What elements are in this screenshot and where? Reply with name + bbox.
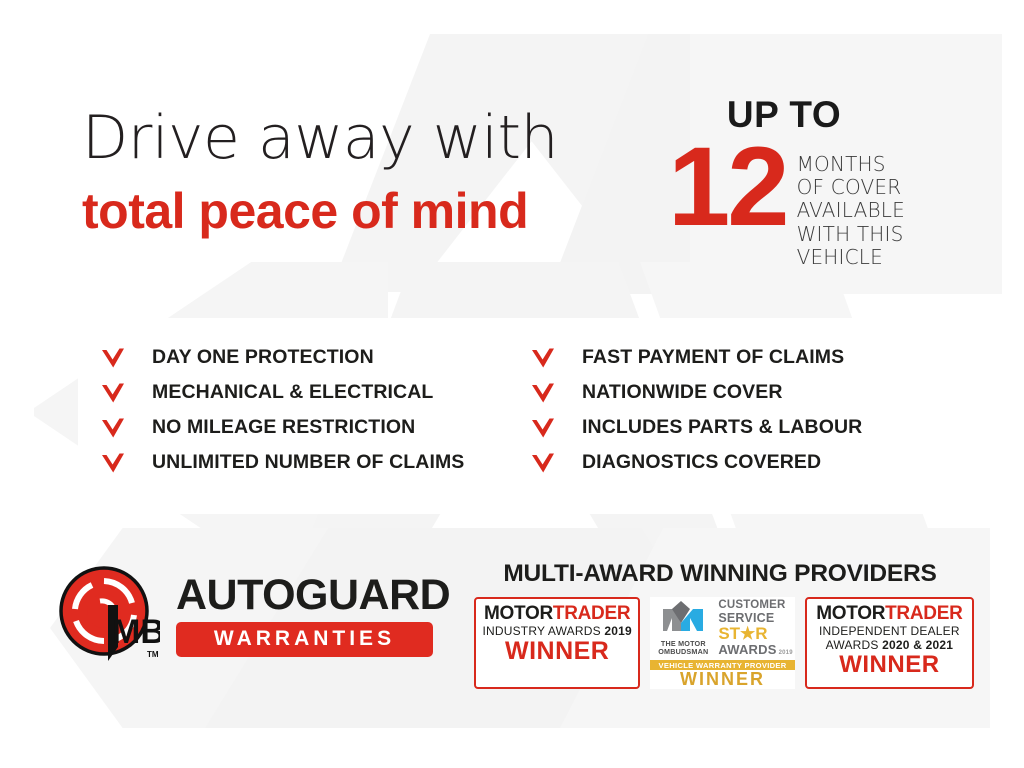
svg-text:MBi: MBi (112, 613, 160, 651)
mbi-logo-icon: MBi TM (56, 565, 160, 665)
brand-logo: MBi TM AUTOGUARD WARRANTIES (56, 565, 450, 665)
feature-item: INCLUDES PARTS & LABOUR (530, 410, 960, 445)
offer-detail-line: VEHICLE (797, 246, 905, 269)
brand-name: AUTOGUARD (176, 574, 450, 617)
feature-item: NO MILEAGE RESTRICTION (100, 410, 530, 445)
offer-block: UP TO 12 MONTHS OF COVER AVAILABLE WITH … (668, 96, 968, 269)
star-awards-title: CUSTOMER SERVICE ST★R AWARDS2019 (718, 600, 792, 656)
feature-item: DIAGNOSTICS COVERED (530, 445, 960, 480)
feature-label: INCLUDES PARTS & LABOUR (582, 416, 862, 439)
feature-list: DAY ONE PROTECTION MECHANICAL & ELECTRIC… (100, 340, 980, 480)
feature-item: MECHANICAL & ELECTRICAL (100, 375, 530, 410)
star-awards-line-3: ST★R (718, 625, 792, 643)
offer-detail-line: OF COVER (797, 176, 905, 199)
feature-item: DAY ONE PROTECTION (100, 340, 530, 375)
badge-year: 2020 & 2021 (882, 638, 953, 652)
star-awards-line-4: AWARDS2019 (718, 643, 792, 657)
feature-label: NATIONWIDE COVER (582, 381, 783, 404)
check-icon (100, 347, 126, 369)
headline: Drive away with total peace of mind (82, 108, 682, 239)
awards-section: MULTI-AWARD WINNING PROVIDERS MOTORTRADE… (474, 560, 974, 689)
awards-title: MULTI-AWARD WINNING PROVIDERS (474, 560, 966, 588)
feature-label: MECHANICAL & ELECTRICAL (152, 381, 433, 404)
ombudsman-name: THE MOTOR OMBUDSMAN (654, 640, 712, 657)
award-badges: MOTORTRADER INDUSTRY AWARDS 2019 WINNER (474, 597, 974, 689)
badge-brand: MOTORTRADER (480, 604, 634, 624)
check-icon (100, 452, 126, 474)
motor-ombudsman-logo: THE MOTOR OMBUDSMAN (654, 599, 712, 657)
badge-result: WINNER (811, 652, 968, 677)
badge-subtitle-text: INDUSTRY AWARDS (482, 624, 600, 638)
feature-item: FAST PAYMENT OF CLAIMS (530, 340, 960, 375)
badge-winner-bar: VEHICLE WARRANTY PROVIDER WINNER (650, 660, 794, 689)
check-icon (530, 347, 556, 369)
feature-item: NATIONWIDE COVER (530, 375, 960, 410)
bottom-margin-mask (0, 728, 1024, 768)
badge-brand-black: MOTOR (484, 603, 553, 624)
ombudsman-m-icon (657, 599, 709, 633)
badge-awards-label: AWARDS (826, 638, 879, 652)
badge-subtitle: INDEPENDENT DEALER (811, 625, 968, 638)
star-awards-year: 2019 (779, 650, 793, 656)
top-margin-mask (0, 0, 1024, 34)
badge-brand-black: MOTOR (816, 603, 885, 624)
headline-line-2: total peace of mind (82, 183, 682, 239)
offer-months-number: 12 (668, 135, 787, 238)
badge-brand-red: TRADER (553, 603, 630, 624)
headline-line-1: Drive away with (82, 108, 682, 169)
badge-year: 2019 (604, 624, 632, 638)
check-icon (530, 382, 556, 404)
feature-label: FAST PAYMENT OF CLAIMS (582, 346, 844, 369)
star-awards-line-2: SERVICE (718, 612, 792, 625)
feature-label: UNLIMITED NUMBER OF CLAIMS (152, 451, 464, 474)
offer-detail-line: WITH THIS (797, 223, 905, 246)
brand-tagline: WARRANTIES (214, 627, 395, 650)
offer-detail-line: MONTHS (797, 153, 905, 176)
offer-detail-lines: MONTHS OF COVER AVAILABLE WITH THIS VEHI… (797, 153, 905, 269)
feature-label: DIAGNOSTICS COVERED (582, 451, 821, 474)
badge-result: WINNER (650, 670, 794, 689)
trademark-symbol: TM (147, 650, 159, 659)
brand-wordmark: AUTOGUARD WARRANTIES (176, 574, 450, 657)
feature-column-left: DAY ONE PROTECTION MECHANICAL & ELECTRIC… (100, 340, 530, 480)
badge-result: WINNER (480, 638, 634, 664)
check-icon (530, 417, 556, 439)
ombudsman-name-line-2: OMBUDSMAN (654, 648, 712, 656)
feature-label: NO MILEAGE RESTRICTION (152, 416, 415, 439)
star-awards-word: AWARDS (718, 643, 776, 657)
award-badge-customer-service-star: THE MOTOR OMBUDSMAN CUSTOMER SERVICE ST★… (650, 597, 794, 689)
check-icon (530, 452, 556, 474)
badge-top-row: THE MOTOR OMBUDSMAN CUSTOMER SERVICE ST★… (650, 597, 794, 657)
feature-item: UNLIMITED NUMBER OF CLAIMS (100, 445, 530, 480)
offer-number-row: 12 MONTHS OF COVER AVAILABLE WITH THIS V… (668, 135, 968, 269)
feature-column-right: FAST PAYMENT OF CLAIMS NATIONWIDE COVER … (530, 340, 960, 480)
promo-banner: Drive away with total peace of mind UP T… (0, 0, 1024, 768)
offer-detail-line: AVAILABLE (797, 199, 905, 222)
right-margin-mask (1002, 0, 1024, 768)
feature-label: DAY ONE PROTECTION (152, 346, 374, 369)
award-badge-motor-trader-2019: MOTORTRADER INDUSTRY AWARDS 2019 WINNER (474, 597, 640, 689)
badge-brand: MOTORTRADER (811, 604, 968, 624)
award-badge-motor-trader-2020-2021: MOTORTRADER INDEPENDENT DEALER AWARDS 20… (805, 597, 974, 689)
check-icon (100, 417, 126, 439)
left-margin-mask (0, 0, 34, 768)
brand-tagline-bar: WARRANTIES (176, 622, 433, 657)
badge-brand-red: TRADER (885, 603, 962, 624)
check-icon (100, 382, 126, 404)
